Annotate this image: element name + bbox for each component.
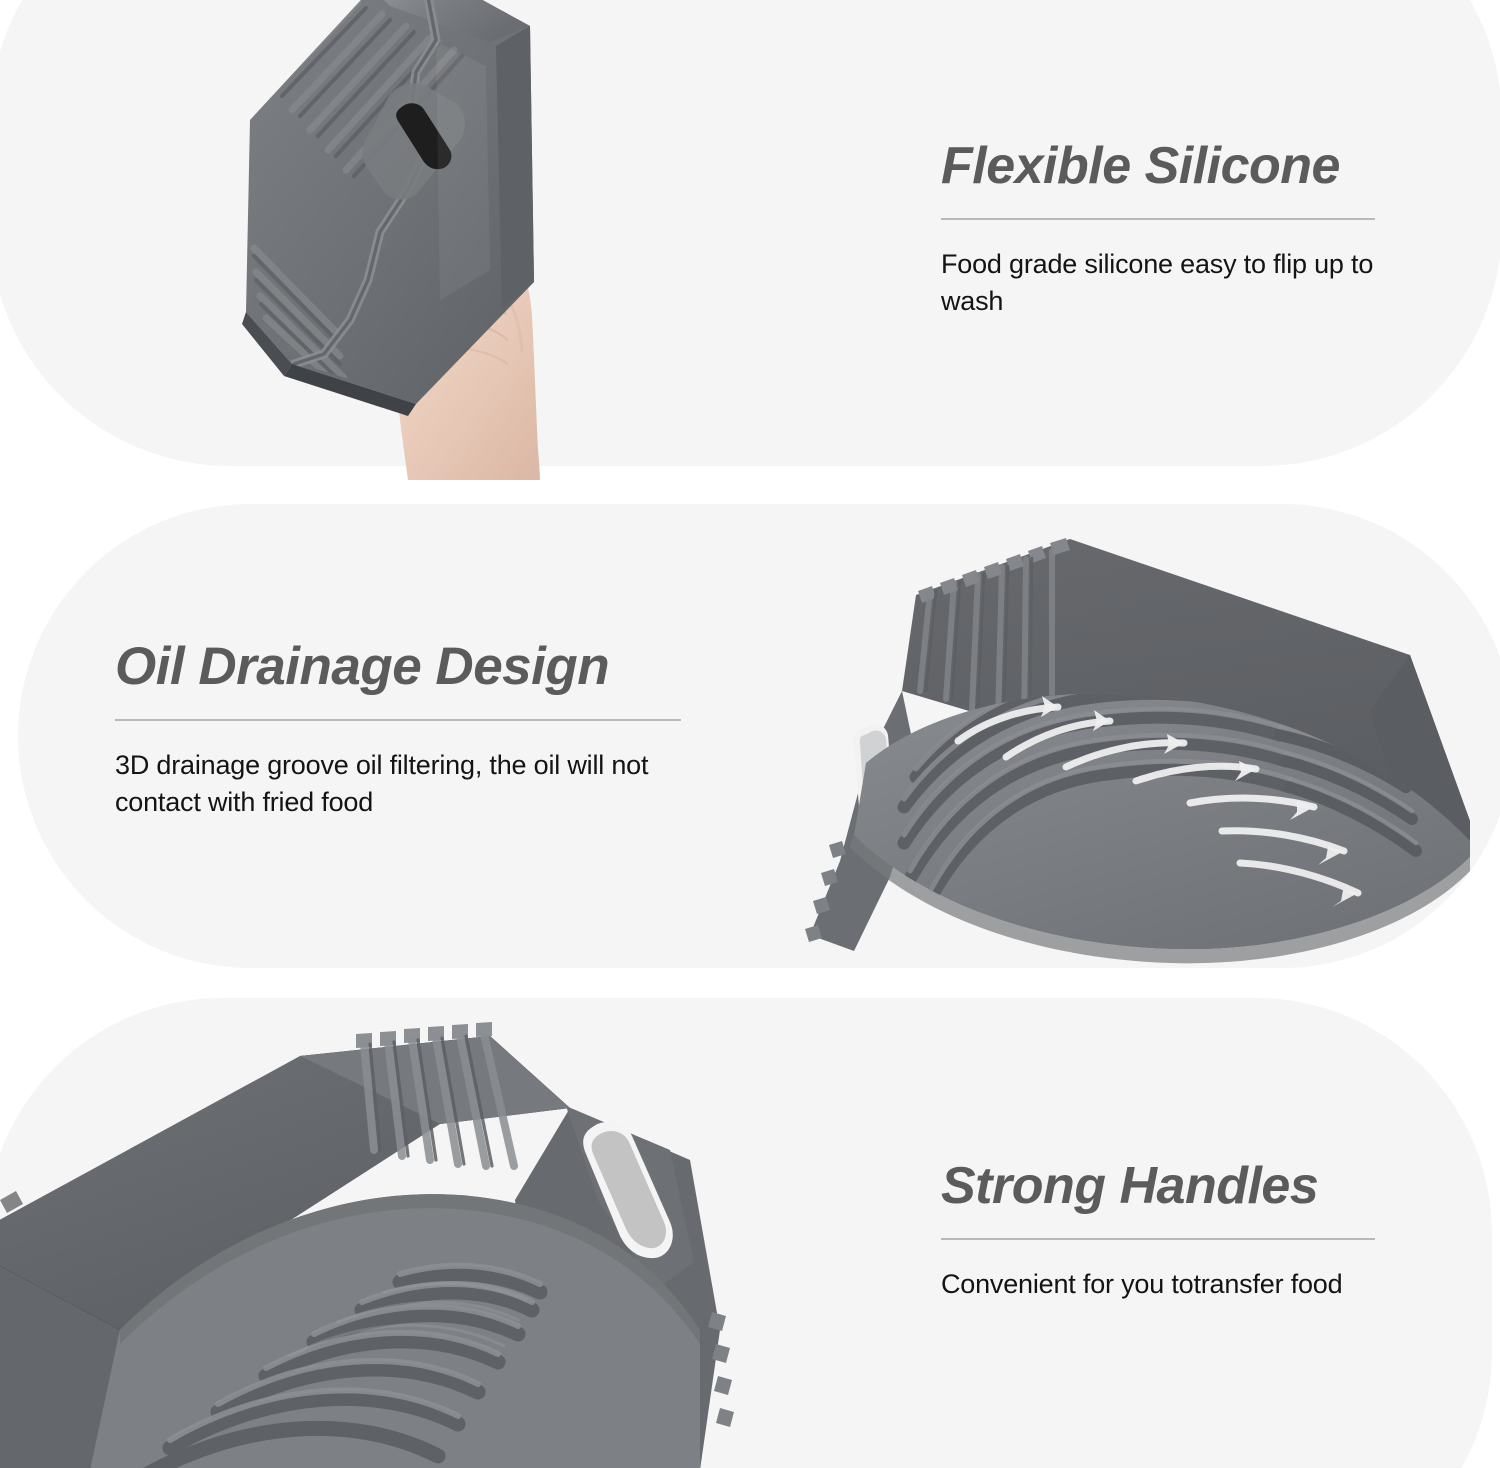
product-photo-basket-handle [0,1000,800,1468]
feature-heading: Strong Handles [941,1160,1393,1212]
feature-heading: Flexible Silicone [941,140,1393,192]
product-photo-hand-holding-folded-liner [240,0,660,480]
feature-body: Convenient for you totransfer food [941,1266,1393,1303]
feature-body: Food grade silicone easy to flip up to w… [941,246,1393,321]
heading-divider [941,1238,1375,1240]
heading-divider [941,218,1375,220]
feature-text-strong-handles: Strong Handles Convenient for you totran… [941,1160,1393,1303]
feature-text-oil-drainage-design: Oil Drainage Design 3D drainage groove o… [115,640,685,821]
product-photo-drainage-grooves [770,505,1500,975]
heading-divider [115,719,681,721]
feature-body: 3D drainage groove oil filtering, the oi… [115,747,685,822]
feature-heading: Oil Drainage Design [115,640,685,693]
product-feature-infographic: Flexible Silicone Food grade silicone ea… [0,0,1500,1468]
feature-text-flexible-silicone: Flexible Silicone Food grade silicone ea… [941,140,1393,320]
